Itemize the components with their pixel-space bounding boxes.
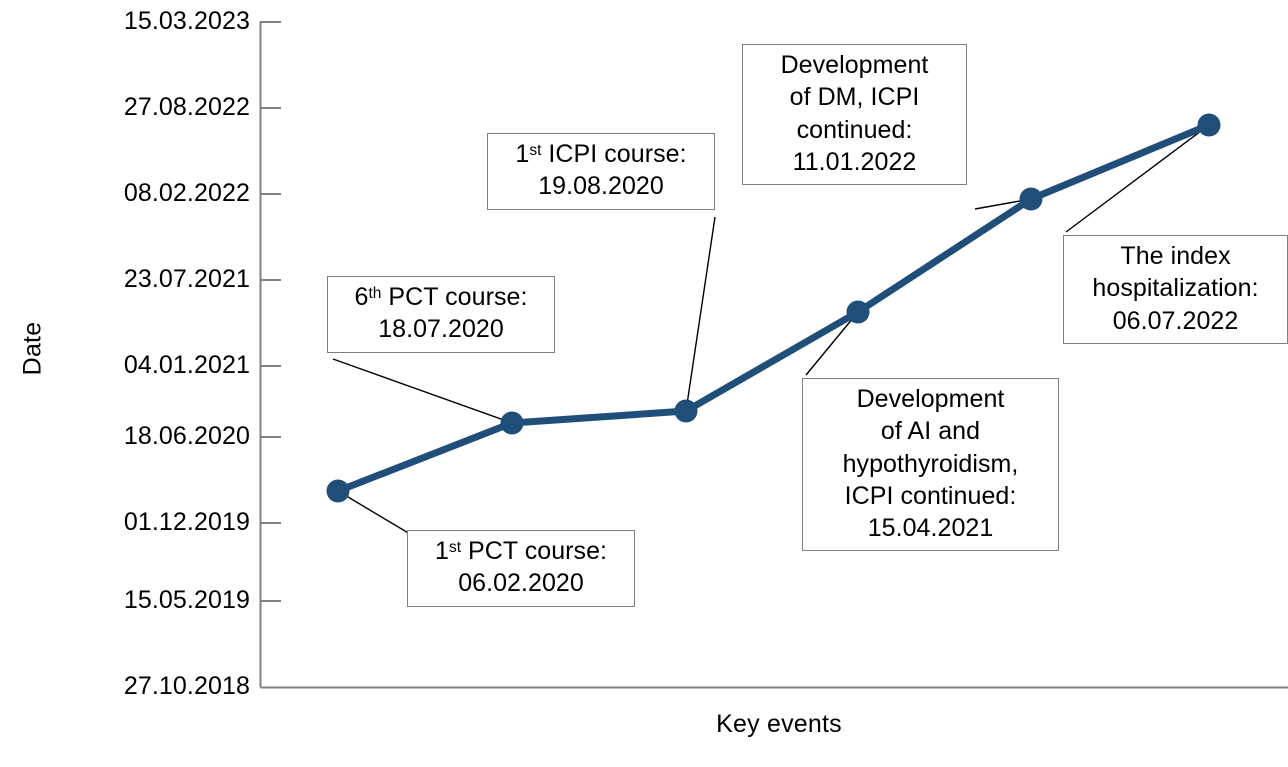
- timeline-chart: Date Key events 15.03.2023 27.08.2022 08…: [0, 0, 1288, 767]
- annotation-date: 06.02.2020: [417, 567, 625, 599]
- y-tick-label: 15.03.2023: [124, 7, 250, 36]
- y-tick-label: 23.07.2021: [124, 265, 250, 294]
- annotation-ordinal-number: 1: [515, 140, 529, 168]
- y-tick-label: 01.12.2019: [124, 508, 250, 537]
- y-tick-label: 15.05.2019: [124, 586, 250, 615]
- y-tick-label: 08.02.2022: [124, 179, 250, 208]
- y-tick-label: 04.01.2021: [124, 351, 250, 380]
- leader-line-first-icpi: [686, 217, 715, 411]
- leader-line-first-pct: [338, 491, 410, 534]
- data-point: [1198, 114, 1221, 137]
- annotation-date: 18.07.2020: [337, 313, 545, 345]
- annotation-line-1: Development: [781, 51, 929, 79]
- leader-line-sixth-pct: [333, 359, 512, 423]
- annotation-date: 11.01.2022: [752, 146, 957, 178]
- annotation-line-4: ICPI continued:: [812, 480, 1049, 512]
- data-point: [501, 412, 524, 435]
- data-point: [847, 301, 870, 324]
- annotation-ordinal-suffix: th: [369, 285, 382, 302]
- annotation-line1-rest: PCT course:: [381, 283, 527, 311]
- annotation-line-2: of DM, ICPI: [752, 81, 957, 113]
- annotation-line-3: continued:: [752, 114, 957, 146]
- annotation-date: 06.07.2022: [1073, 305, 1278, 337]
- annotation-line-2: of AI and: [812, 415, 1049, 447]
- annotation-development-dm-icpi: Development of DM, ICPI continued: 11.01…: [742, 44, 967, 185]
- data-point: [327, 480, 350, 503]
- annotation-ordinal-suffix: st: [449, 539, 461, 556]
- annotation-sixth-pct-course: 6th PCT course: 18.07.2020: [327, 276, 555, 353]
- annotation-line-1: Development: [857, 385, 1005, 413]
- y-axis-title: Date: [19, 299, 48, 399]
- y-tick-label: 27.08.2022: [124, 93, 250, 122]
- y-tick-label: 18.06.2020: [124, 422, 250, 451]
- annotation-first-pct-course: 1st PCT course: 06.02.2020: [407, 530, 635, 607]
- y-tick-label: 27.10.2018: [124, 672, 250, 701]
- annotation-line1-rest: PCT course:: [461, 537, 607, 565]
- annotation-index-hospitalization: The index hospitalization: 06.07.2022: [1063, 235, 1288, 344]
- annotation-first-icpi-course: 1st ICPI course: 19.08.2020: [487, 133, 715, 210]
- x-axis-title: Key events: [270, 710, 1288, 739]
- y-axis: [260, 22, 281, 688]
- annotation-line-3: hypothyroidism,: [812, 448, 1049, 480]
- annotation-line-1: The index: [1120, 242, 1230, 270]
- annotation-date: 15.04.2021: [812, 512, 1049, 544]
- annotation-ordinal-number: 1: [435, 537, 449, 565]
- annotation-date: 19.08.2020: [497, 170, 705, 202]
- data-point: [675, 400, 698, 423]
- annotation-development-ai-hypothyroidism: Development of AI and hypothyroidism, IC…: [802, 378, 1059, 551]
- annotation-ordinal-number: 6: [355, 283, 369, 311]
- annotation-line1-rest: ICPI course:: [541, 140, 686, 168]
- data-point: [1020, 188, 1043, 211]
- leader-line-development-ai: [806, 312, 858, 375]
- annotation-line-2: hospitalization:: [1073, 272, 1278, 304]
- annotation-ordinal-suffix: st: [529, 142, 541, 159]
